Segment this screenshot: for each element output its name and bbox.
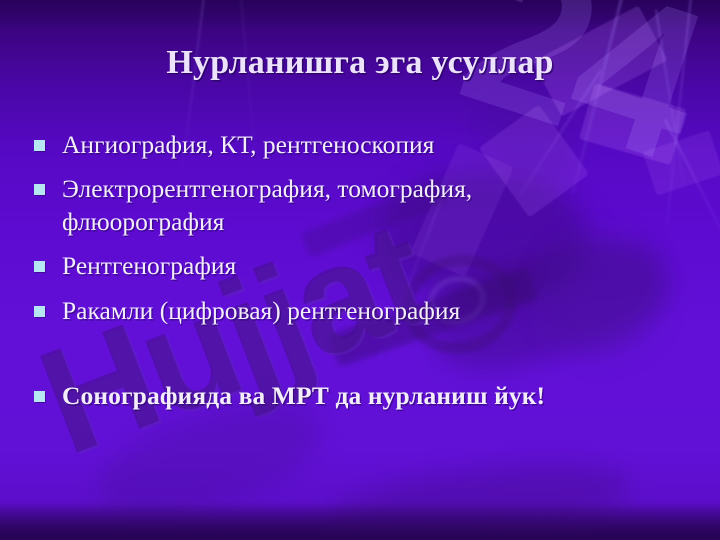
square-bullet-icon xyxy=(34,261,45,272)
list-item-label: Электрорентгенография, томография, флюор… xyxy=(62,172,622,238)
list-item: Ангиография, КТ, рентгеноскопия xyxy=(34,128,696,161)
slide-title: Нурланишга эга усуллар xyxy=(0,44,720,82)
square-bullet-icon xyxy=(34,306,45,317)
list-item-label: Сонографияда ва МРТ да нурланиш йук! xyxy=(62,379,622,412)
bullet-list: Ангиография, КТ, рентгеноскопия Электрор… xyxy=(34,128,696,423)
presentation-slide: 24 Hujjat Нурланишга эга усуллар Ангиогр… xyxy=(0,0,720,540)
list-item: Рентгенография xyxy=(34,249,696,282)
square-bullet-icon xyxy=(34,140,45,151)
slide-content: Нурланишга эга усуллар Ангиография, КТ, … xyxy=(0,0,720,540)
list-item: Сонографияда ва МРТ да нурланиш йук! xyxy=(34,379,696,412)
square-bullet-icon xyxy=(34,391,45,402)
square-bullet-icon xyxy=(34,184,45,195)
list-item-label: Ангиография, КТ, рентгеноскопия xyxy=(62,128,622,161)
list-item: Электрорентгенография, томография, флюор… xyxy=(34,172,696,238)
list-item-label: Рентгенография xyxy=(62,249,622,282)
list-item-label: Ракамли (цифровая) рентгенография xyxy=(62,294,622,327)
list-item: Ракамли (цифровая) рентгенография xyxy=(34,294,696,327)
